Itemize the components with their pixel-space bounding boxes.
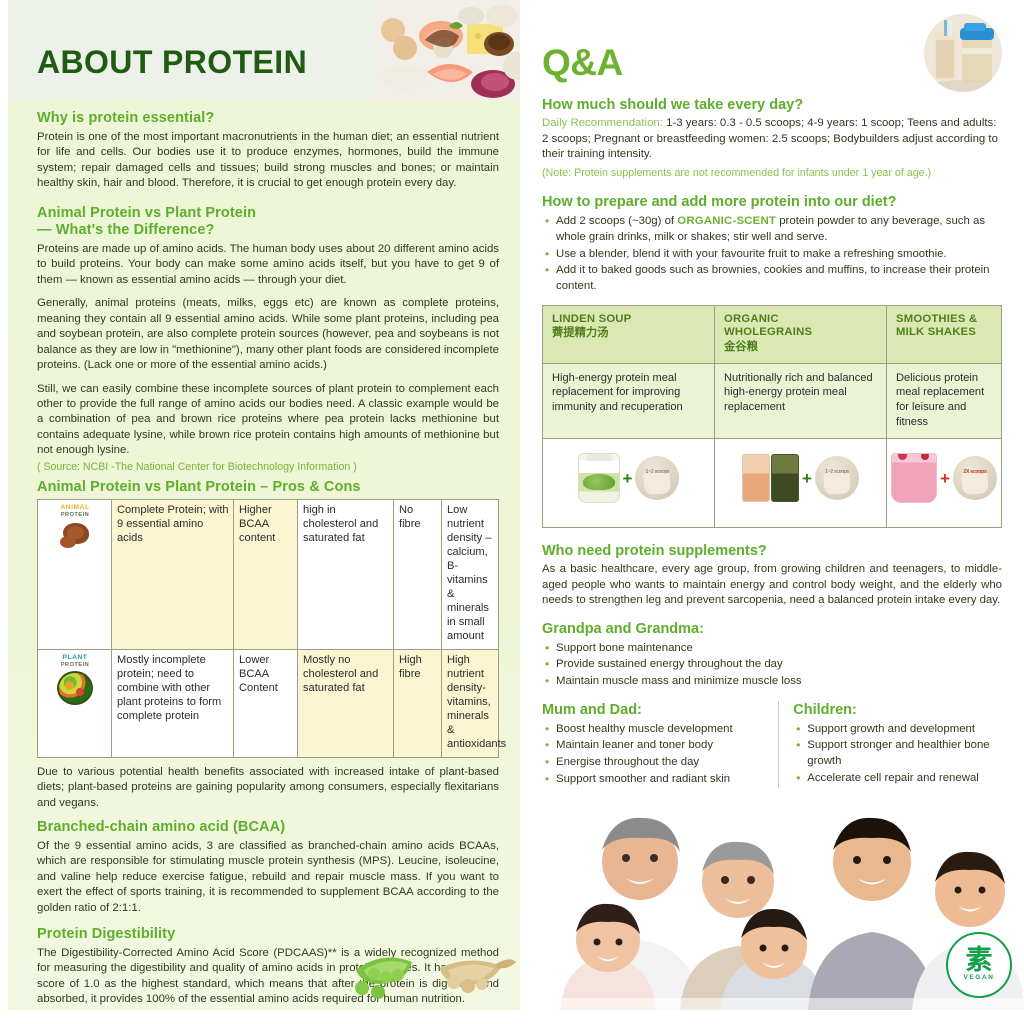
protein-scoop-icon: 1~2 scoops — [815, 456, 859, 500]
product-table-desc-row: High-energy protein meal replacement for… — [543, 363, 1002, 439]
list-item: Provide sustained energy throughout the … — [556, 657, 1002, 673]
paragraph-why-protein: Protein is one of the most important mac… — [37, 130, 499, 192]
right-page: Q&A How much should we take every day? D… — [520, 0, 1024, 1010]
list-item: Add 2 scoops (~30g) of ORGANIC-SCENT pro… — [556, 214, 1002, 245]
children-column: Children: Support growth and development… — [778, 701, 1002, 789]
linden-soup-jar-icon — [578, 453, 620, 503]
list-item: Add it to baked goods such as brownies, … — [556, 263, 1002, 294]
product-title-cn-wholegrains: 金谷粮 — [724, 340, 877, 355]
animal-cell-4: No fibre — [394, 500, 442, 650]
plant-protein-caption-sub: PROTEIN — [43, 662, 107, 668]
product-header-smoothies: SMOOTHIES & MILK SHAKES — [887, 305, 1002, 363]
heading-animal-vs-plant-line2: — What's the Difference? — [37, 222, 499, 240]
product-title-wholegrains-line1: ORGANIC — [724, 313, 877, 327]
product-title-smoothies-line2: MILK SHAKES — [896, 326, 992, 340]
heading-digestibility: Protein Digestibility — [37, 926, 499, 944]
product-images-linden-soup: + 1~2 scoops — [543, 439, 715, 528]
paragraph-combining-proteins: Still, we can easily combine these incom… — [37, 382, 499, 459]
paragraph-plant-based-trend: Due to various potential health benefits… — [37, 765, 499, 811]
product-desc-wholegrains: Nutritionally rich and balanced high-ene… — [715, 363, 887, 439]
comparison-table: ANIMAL PROTEIN Complete Protein; with 9 … — [37, 499, 499, 757]
plant-cell-1: Mostly incomplete protein; need to combi… — [112, 650, 234, 758]
protein-scoop-icon: 2X scoops — [953, 456, 997, 500]
vegan-badge: 素 VEGAN — [946, 932, 1012, 998]
left-page: ABOUT PROTEIN — [8, 0, 520, 1010]
plant-cell-5: High nutrient density- vitamins, mineral… — [442, 650, 499, 758]
heading-why-protein: Why is protein essential? — [37, 110, 499, 128]
parents-column: Mum and Dad: Boost healthy muscle develo… — [542, 701, 778, 789]
wholegrain-pack-1-icon — [742, 454, 770, 502]
plant-cell-2: Lower BCAA Content — [234, 650, 298, 758]
animal-protein-caption: ANIMAL — [43, 504, 107, 512]
paragraph-amino-acids: Proteins are made up of amino acids. The… — [37, 242, 499, 288]
product-header-wholegrains: ORGANIC WHOLEGRAINS 金谷粮 — [715, 305, 887, 363]
source-citation: ( Source: NCBI -The National Center for … — [37, 461, 499, 473]
list-item: Support stronger and healthier bone grow… — [807, 738, 1002, 769]
paragraph-complete-proteins: Generally, animal proteins (meats, milks… — [37, 296, 499, 373]
animal-cell-1: Complete Protein; with 9 essential amino… — [112, 500, 234, 650]
heading-pros-and-cons: Animal Protein vs Plant Protein – Pros &… — [37, 479, 499, 497]
list-item: Boost healthy muscle development — [556, 722, 766, 738]
scoop-label-smoothies: 2X scoops — [953, 469, 997, 475]
product-usage-table: LINDEN SOUP 薺提精力汤 ORGANIC WHOLEGRAINS 金谷… — [542, 305, 1002, 529]
product-images-smoothies: + 2X scoops — [887, 439, 1002, 528]
animal-protein-label-cell: ANIMAL PROTEIN — [38, 500, 112, 650]
product-table-image-row: + 1~2 scoops + 1~2 scoops — [543, 439, 1002, 528]
heading-who-needs-supplements: Who need protein supplements? — [542, 542, 1002, 560]
vegan-badge-label: VEGAN — [963, 974, 994, 981]
meat-icon — [58, 521, 92, 551]
right-content: How much should we take every day? Daily… — [542, 96, 1002, 788]
table-row-plant: PLANT PROTEIN Mostly incomplete protein;… — [38, 650, 499, 758]
plus-icon: + — [802, 470, 812, 487]
animal-protein-caption-sub: PROTEIN — [43, 512, 107, 518]
product-header-linden-soup: LINDEN SOUP 薺提精力汤 — [543, 305, 715, 363]
brochure-page: ABOUT PROTEIN — [0, 0, 1024, 1024]
plant-cell-3: Mostly no cholesterol and saturated fat — [298, 650, 394, 758]
list-item: Use a blender, blend it with your favour… — [556, 247, 1002, 263]
list-item: Maintain leaner and toner body — [556, 738, 766, 754]
children-bullet-list: Support growth and development Support s… — [793, 722, 1002, 787]
strawberry-smoothie-icon — [891, 453, 937, 503]
prepare-bullet-list: Add 2 scoops (~30g) of ORGANIC-SCENT pro… — [542, 214, 1002, 294]
plant-protein-label-cell: PLANT PROTEIN — [38, 650, 112, 758]
prepare-bullet-1-pre: Add 2 scoops (~30g) of — [556, 215, 677, 227]
list-item: Support bone maintenance — [556, 641, 1002, 657]
scoop-label-linden: 1~2 scoops — [635, 469, 679, 475]
daily-recommendation-label: Daily Recommendation: — [542, 117, 663, 129]
page-title: ABOUT PROTEIN — [37, 46, 307, 78]
heading-how-to-prepare: How to prepare and add more protein into… — [542, 193, 1002, 211]
heading-animal-vs-plant-line1: Animal Protein vs Plant Protein — [37, 205, 499, 223]
brand-name: ORGANIC-SCENT — [677, 215, 776, 227]
left-content: Why is protein essential? Protein is one… — [8, 100, 520, 1010]
left-header-band: ABOUT PROTEIN — [8, 0, 520, 100]
vegan-badge-char: 素 — [966, 949, 993, 973]
note-infants: (Note: Protein supplements are not recom… — [542, 167, 1002, 179]
product-desc-linden-soup: High-energy protein meal replacement for… — [543, 363, 715, 439]
heading-bcaa: Branched-chain amino acid (BCAA) — [37, 819, 499, 837]
list-item: Accelerate cell repair and renewal — [807, 771, 1002, 787]
list-item: Energise throughout the day — [556, 755, 766, 771]
protein-foods-photo — [375, 0, 520, 100]
animal-cell-2: Higher BCAA content — [234, 500, 298, 650]
heading-how-much-daily: How much should we take every day? — [542, 96, 1002, 114]
product-title-cn-linden-soup: 薺提精力汤 — [552, 326, 705, 341]
paragraph-bcaa: Of the 9 essential amino acids, 3 are cl… — [37, 839, 499, 916]
list-item: Maintain muscle mass and minimize muscle… — [556, 674, 1002, 690]
heading-children: Children: — [793, 701, 1002, 719]
grandparents-bullet-list: Support bone maintenance Provide sustain… — [542, 641, 1002, 690]
animal-cell-5: Low nutrient density – calcium, B-vitami… — [442, 500, 499, 650]
table-row-animal: ANIMAL PROTEIN Complete Protein; with 9 … — [38, 500, 499, 650]
protein-shake-photo — [924, 14, 1002, 92]
animal-cell-3: high in cholesterol and saturated fat — [298, 500, 394, 650]
list-item: Support smoother and radiant skin — [556, 772, 766, 788]
family-photo: 素 VEGAN — [560, 790, 1024, 1010]
wholegrain-pack-2-icon — [771, 454, 799, 502]
product-title-wholegrains-line2: WHOLEGRAINS — [724, 326, 877, 340]
vegetable-bowl-icon — [57, 671, 93, 705]
protein-scoop-icon: 1~2 scoops — [635, 456, 679, 500]
product-desc-smoothies: Delicious protein meal replacement for l… — [887, 363, 1002, 439]
plant-cell-4: High fibre — [394, 650, 442, 758]
plant-protein-caption: PLANT — [43, 654, 107, 662]
plus-icon: + — [940, 470, 950, 487]
product-table-header-row: LINDEN SOUP 薺提精力汤 ORGANIC WHOLEGRAINS 金谷… — [543, 305, 1002, 363]
product-title-smoothies-line1: SMOOTHIES & — [896, 313, 992, 327]
parents-children-columns: Mum and Dad: Boost healthy muscle develo… — [542, 701, 1002, 789]
peas-and-soybeans-photo — [348, 944, 518, 1002]
scoop-label-wholegrains: 1~2 scoops — [815, 469, 859, 475]
product-images-wholegrains: + 1~2 scoops — [715, 439, 887, 528]
qa-title: Q&A — [542, 44, 623, 81]
paragraph-daily-recommendation: Daily Recommendation: 1-3 years: 0.3 - 0… — [542, 116, 1002, 162]
parents-bullet-list: Boost healthy muscle development Maintai… — [542, 722, 766, 788]
paragraph-who-needs: As a basic healthcare, every age group, … — [542, 562, 1002, 608]
product-title-linden-soup: LINDEN SOUP — [552, 313, 705, 327]
list-item: Support growth and development — [807, 722, 1002, 738]
plus-icon: + — [623, 470, 633, 487]
heading-grandparents: Grandpa and Grandma: — [542, 620, 1002, 638]
heading-parents: Mum and Dad: — [542, 701, 766, 719]
